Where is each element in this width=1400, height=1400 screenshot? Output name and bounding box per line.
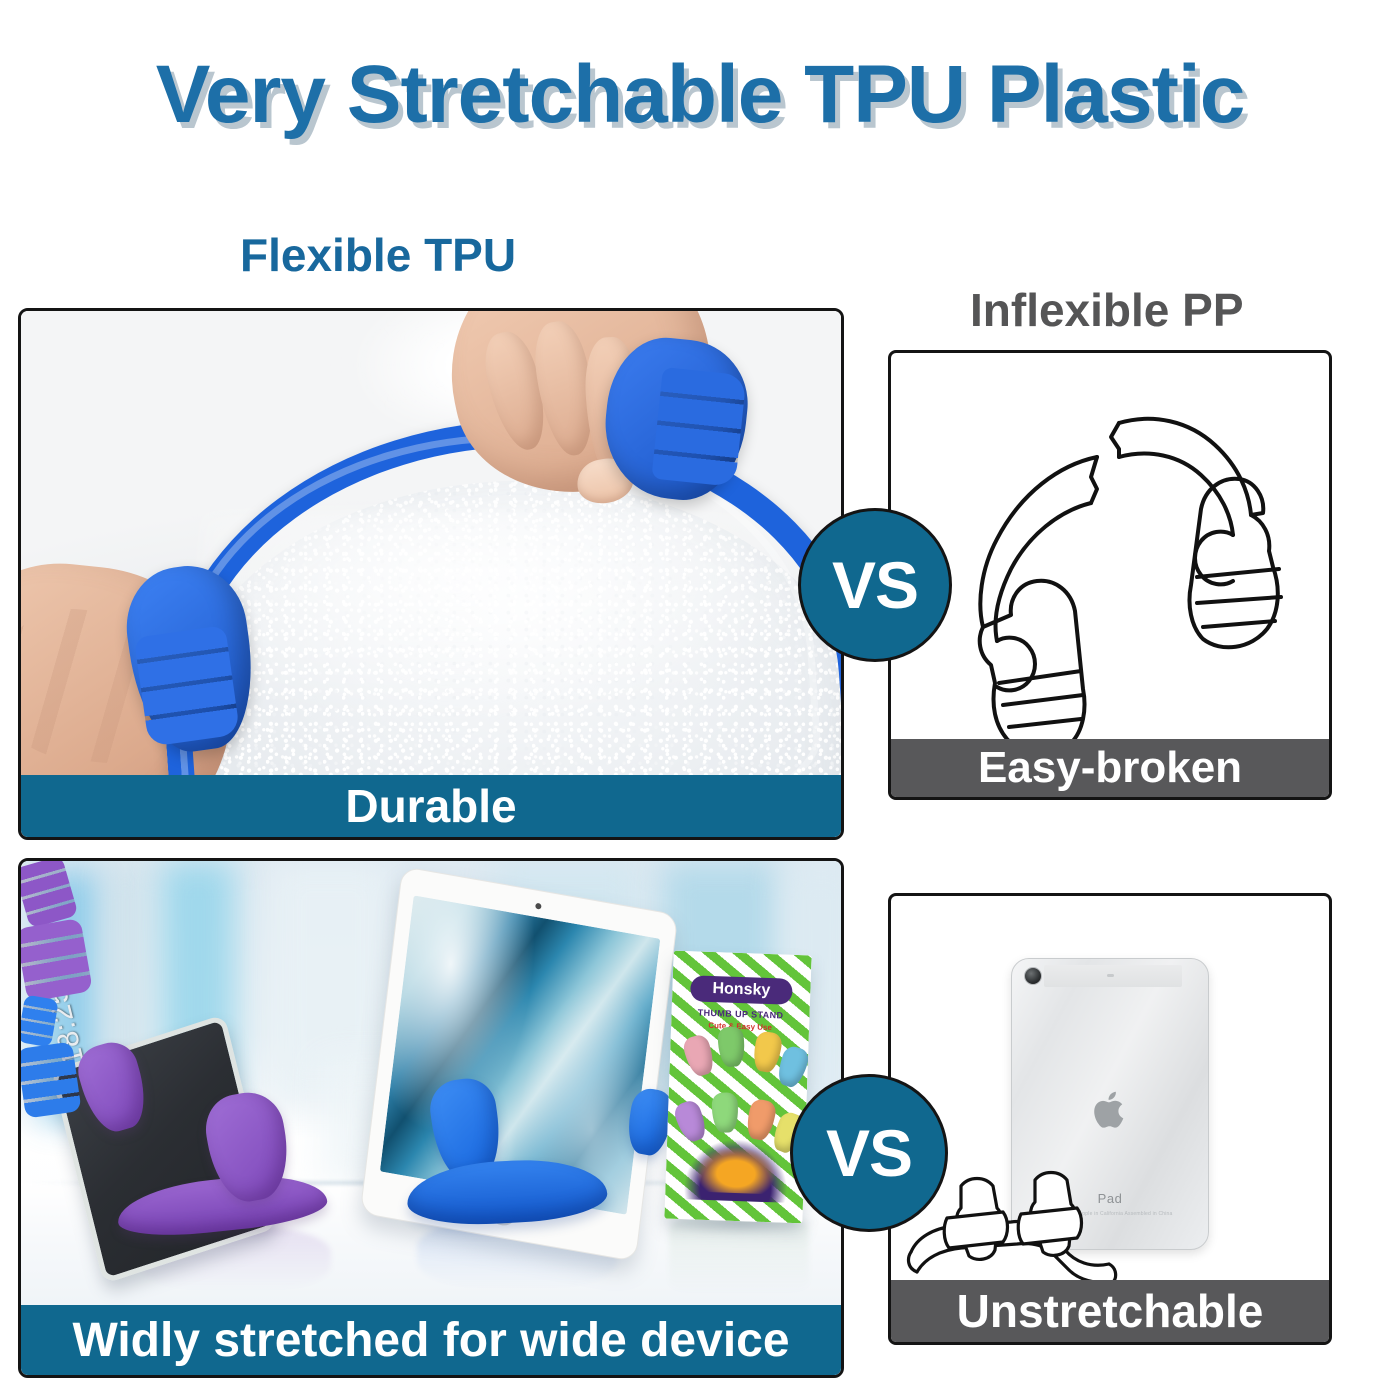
tablet-microphone (1107, 974, 1114, 977)
vs-badge-top: VS (798, 508, 952, 662)
apple-logo-icon (1089, 1087, 1131, 1133)
vs-badge-bottom: VS (790, 1074, 948, 1232)
caption-easy-broken: Easy-broken (891, 739, 1329, 797)
tablet-rear-camera (1024, 967, 1042, 985)
box-thumb-icon-6 (711, 1092, 738, 1133)
broken-pp-stand-illustration (891, 353, 1332, 800)
caption-unstretchable: Unstretchable (891, 1280, 1329, 1342)
panel-durable-photo: Durable (18, 308, 844, 840)
tpu-thumb-right-fingers (651, 367, 746, 487)
panel-easy-broken-drawing: Easy-broken (888, 350, 1332, 800)
purple-thumb-right-fingers (18, 918, 93, 1002)
product-brand-label: Honsky (690, 975, 793, 1005)
box-burst-glow (693, 1144, 779, 1195)
page-title: Very Stretchable TPU Plastic (0, 48, 1400, 142)
flexible-tpu-label: Flexible TPU (240, 228, 516, 282)
caption-widly-stretched: Widly stretched for wide device (21, 1305, 841, 1375)
tpu-thumb-left-fingers (134, 625, 240, 747)
panel-unstretchable: Pad Designed by Apple in California Asse… (888, 893, 1332, 1345)
unstretchable-pp-stand-illustration (899, 1164, 1199, 1294)
panel-wide-device-photo: 18:25 Honsky THUMB UP STAND Cute & Easy … (18, 858, 844, 1378)
product-box: Honsky THUMB UP STAND Cute & Easy Use (664, 951, 811, 1224)
caption-durable: Durable (21, 775, 841, 837)
blue-thumb-left-fingers (18, 1041, 82, 1118)
tablet-camera (535, 903, 542, 910)
inflexible-pp-label: Inflexible PP (970, 283, 1244, 337)
